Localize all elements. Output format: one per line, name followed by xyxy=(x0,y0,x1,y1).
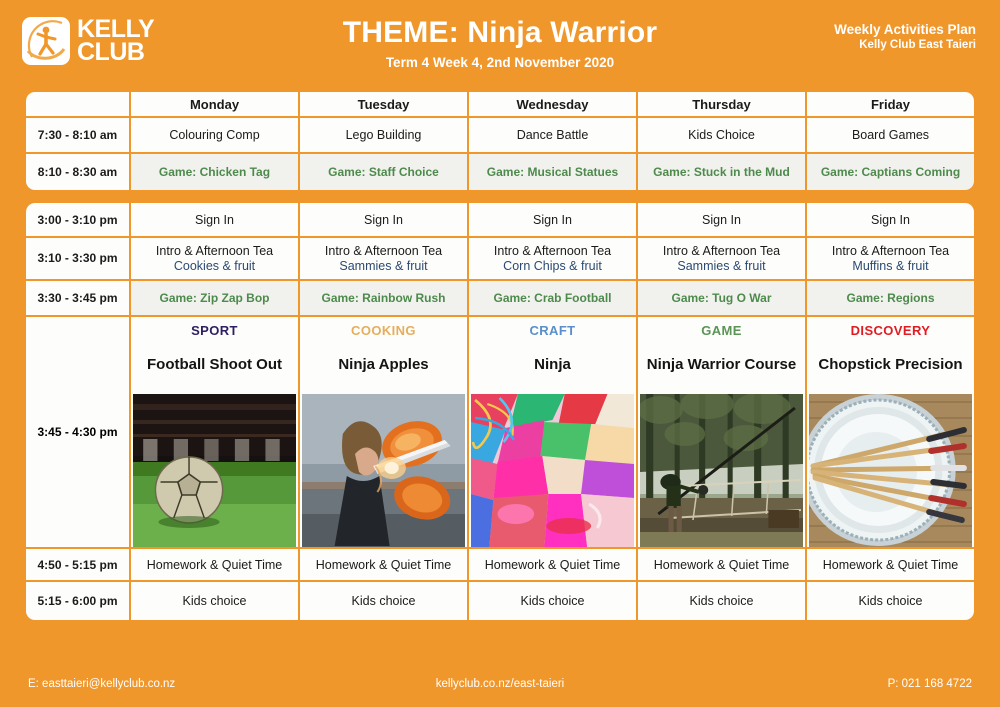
row-time-label: 5:15 - 6:00 pm xyxy=(26,582,131,620)
club-name: Kelly Club East Taieri xyxy=(834,39,976,51)
tea-detail: Sammies & fruit xyxy=(339,259,427,274)
table-row: 8:10 - 8:30 am Game: Chicken Tag Game: S… xyxy=(26,154,974,190)
row-time-label: 4:50 - 5:15 pm xyxy=(26,549,131,582)
morning-schedule-table: Monday Tuesday Wednesday Thursday Friday… xyxy=(26,92,974,190)
tea-main-label: Intro & Afternoon Tea xyxy=(325,244,442,259)
activity-column-wednesday: CRAFT Ninja xyxy=(469,317,638,547)
row-time-label: 7:30 - 8:10 am xyxy=(26,118,131,154)
kelly-club-figure-icon xyxy=(22,17,70,65)
cell-wednesday: Game: Musical Statues xyxy=(469,154,638,190)
table-row: 5:15 - 6:00 pm Kids choice Kids choice K… xyxy=(26,582,974,620)
column-header-wednesday: Wednesday xyxy=(469,92,638,118)
category-label: COOKING xyxy=(300,317,467,343)
column-header-monday: Monday xyxy=(131,92,300,118)
category-label: CRAFT xyxy=(469,317,636,343)
afternoon-schedule-table: 3:00 - 3:10 pm Sign In Sign In Sign In S… xyxy=(26,203,974,620)
cell-friday: Intro & Afternoon Tea Muffins & fruit xyxy=(807,238,974,281)
cell-friday: Sign In xyxy=(807,203,974,238)
column-header-tuesday: Tuesday xyxy=(300,92,469,118)
category-label: DISCOVERY xyxy=(807,317,974,343)
row-time-label: 3:00 - 3:10 pm xyxy=(26,203,131,238)
cell-thursday: Kids Choice xyxy=(638,118,807,154)
activity-name: Ninja Warrior Course xyxy=(638,343,805,385)
activity-column-friday: DISCOVERY Chopstick Precision xyxy=(807,317,974,547)
soccer-ball-on-grass-photo xyxy=(133,394,296,547)
cell-tuesday: Kids choice xyxy=(300,582,469,620)
cell-monday: Homework & Quiet Time xyxy=(131,549,300,582)
logo-line-2: CLUB xyxy=(77,41,154,64)
tea-main-label: Intro & Afternoon Tea xyxy=(494,244,611,259)
page-footer: E: easttaieri@kellyclub.co.nz kellyclub.… xyxy=(0,661,1000,707)
tea-main-label: Intro & Afternoon Tea xyxy=(832,244,949,259)
footer-phone: P: 021 168 4722 xyxy=(888,678,972,690)
table-row: 4:50 - 5:15 pm Homework & Quiet Time Hom… xyxy=(26,549,974,582)
footer-email[interactable]: E: easttaieri@kellyclub.co.nz xyxy=(28,678,175,690)
table-header-row: Monday Tuesday Wednesday Thursday Friday xyxy=(26,92,974,118)
header-time-corner xyxy=(26,92,131,118)
row-time-label: 3:10 - 3:30 pm xyxy=(26,238,131,281)
cell-monday: Intro & Afternoon Tea Cookies & fruit xyxy=(131,238,300,281)
chopsticks-in-bowl-photo xyxy=(809,394,972,547)
header-meta: Weekly Activities Plan Kelly Club East T… xyxy=(834,22,976,51)
cell-tuesday: Homework & Quiet Time xyxy=(300,549,469,582)
table-gap xyxy=(0,190,1000,203)
cell-wednesday: Homework & Quiet Time xyxy=(469,549,638,582)
cell-thursday: Homework & Quiet Time xyxy=(638,549,807,582)
main-activity-row: 3:45 - 4:30 pm SPORT Football Shoot Out xyxy=(26,317,974,549)
cell-tuesday: Sign In xyxy=(300,203,469,238)
tea-detail: Muffins & fruit xyxy=(852,259,928,274)
category-label: SPORT xyxy=(131,317,298,343)
cell-friday: Game: Regions xyxy=(807,281,974,317)
tea-main-label: Intro & Afternoon Tea xyxy=(663,244,780,259)
colourful-craft-materials-photo xyxy=(471,394,634,547)
page-header: KELLY CLUB THEME: Ninja Warrior Term 4 W… xyxy=(0,0,1000,92)
tea-detail: Cookies & fruit xyxy=(174,259,255,274)
table-row: 3:10 - 3:30 pm Intro & Afternoon Tea Coo… xyxy=(26,238,974,281)
cell-wednesday: Game: Crab Football xyxy=(469,281,638,317)
cell-tuesday: Intro & Afternoon Tea Sammies & fruit xyxy=(300,238,469,281)
activity-name: Ninja Apples xyxy=(300,343,467,385)
cell-thursday: Sign In xyxy=(638,203,807,238)
activity-name: Ninja xyxy=(469,343,636,385)
cell-friday: Homework & Quiet Time xyxy=(807,549,974,582)
tea-main-label: Intro & Afternoon Tea xyxy=(156,244,273,259)
cell-thursday: Game: Stuck in the Mud xyxy=(638,154,807,190)
cell-thursday: Intro & Afternoon Tea Sammies & fruit xyxy=(638,238,807,281)
cell-wednesday: Kids choice xyxy=(469,582,638,620)
tea-detail: Corn Chips & fruit xyxy=(503,259,602,274)
cell-monday: Colouring Comp xyxy=(131,118,300,154)
table-row: 3:00 - 3:10 pm Sign In Sign In Sign In S… xyxy=(26,203,974,238)
cell-tuesday: Game: Rainbow Rush xyxy=(300,281,469,317)
plan-label: Weekly Activities Plan xyxy=(834,22,976,37)
cell-wednesday: Intro & Afternoon Tea Corn Chips & fruit xyxy=(469,238,638,281)
activity-name: Football Shoot Out xyxy=(131,343,298,385)
table-row: 3:30 - 3:45 pm Game: Zip Zap Bop Game: R… xyxy=(26,281,974,317)
column-header-thursday: Thursday xyxy=(638,92,807,118)
row-time-label: 8:10 - 8:30 am xyxy=(26,154,131,190)
cell-wednesday: Dance Battle xyxy=(469,118,638,154)
kelly-club-logo: KELLY CLUB xyxy=(22,17,154,65)
column-header-friday: Friday xyxy=(807,92,974,118)
cell-tuesday: Game: Staff Choice xyxy=(300,154,469,190)
cell-monday: Game: Chicken Tag xyxy=(131,154,300,190)
cell-thursday: Kids choice xyxy=(638,582,807,620)
category-label: GAME xyxy=(638,317,805,343)
row-time-label: 3:30 - 3:45 pm xyxy=(26,281,131,317)
cell-wednesday: Sign In xyxy=(469,203,638,238)
activity-column-thursday: GAME Ninja Warrior Course xyxy=(638,317,807,547)
cell-monday: Kids choice xyxy=(131,582,300,620)
woman-cutting-pumpkin-photo xyxy=(302,394,465,547)
cell-monday: Game: Zip Zap Bop xyxy=(131,281,300,317)
logo-wordmark: KELLY CLUB xyxy=(77,18,154,64)
activity-column-tuesday: COOKING Ninja Apples xyxy=(300,317,469,547)
cell-thursday: Game: Tug O War xyxy=(638,281,807,317)
cell-friday: Kids choice xyxy=(807,582,974,620)
activity-name: Chopstick Precision xyxy=(807,343,974,385)
activity-column-monday: SPORT Football Shoot Out xyxy=(131,317,300,547)
cell-monday: Sign In xyxy=(131,203,300,238)
tea-detail: Sammies & fruit xyxy=(677,259,765,274)
outdoor-rope-course-photo xyxy=(640,394,803,547)
cell-friday: Game: Captians Coming xyxy=(807,154,974,190)
cell-friday: Board Games xyxy=(807,118,974,154)
cell-tuesday: Lego Building xyxy=(300,118,469,154)
row-time-label: 3:45 - 4:30 pm xyxy=(26,317,131,547)
table-row: 7:30 - 8:10 am Colouring Comp Lego Build… xyxy=(26,118,974,154)
